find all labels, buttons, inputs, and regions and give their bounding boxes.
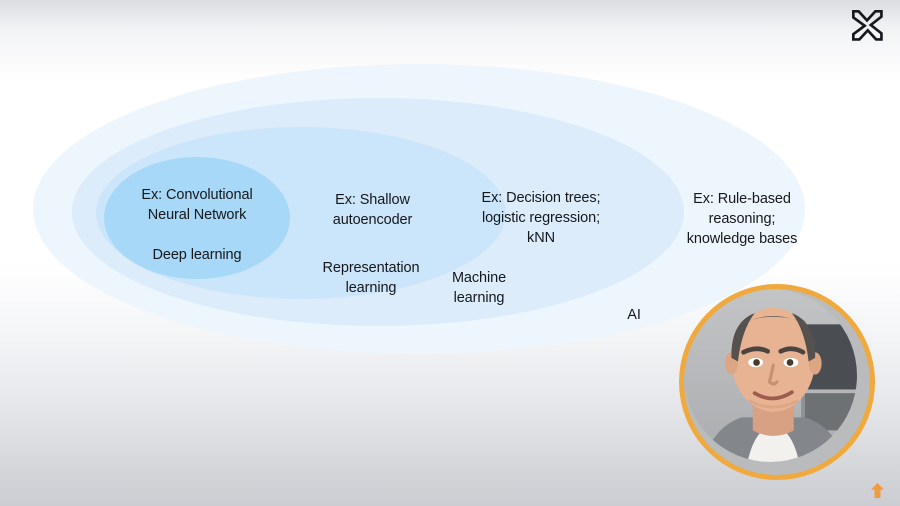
presenter-video-feed bbox=[684, 289, 870, 475]
presenter-video-bubble[interactable] bbox=[679, 284, 875, 480]
category-label-machine-learning: Machine learning bbox=[404, 268, 554, 308]
x-monogram-logo bbox=[848, 6, 886, 44]
example-label-deep-learning: Ex: Convolutional Neural Network bbox=[92, 185, 302, 225]
category-label-ai: AI bbox=[593, 305, 675, 325]
example-label-representation-learning: Ex: Shallow autoencoder bbox=[285, 190, 460, 230]
presentation-slide: Ex: Convolutional Neural Network Deep le… bbox=[0, 0, 900, 506]
example-label-machine-learning: Ex: Decision trees; logistic regression;… bbox=[443, 188, 639, 248]
orange-arrow-mark bbox=[871, 483, 884, 498]
example-label-ai: Ex: Rule-based reasoning; knowledge base… bbox=[628, 189, 856, 249]
